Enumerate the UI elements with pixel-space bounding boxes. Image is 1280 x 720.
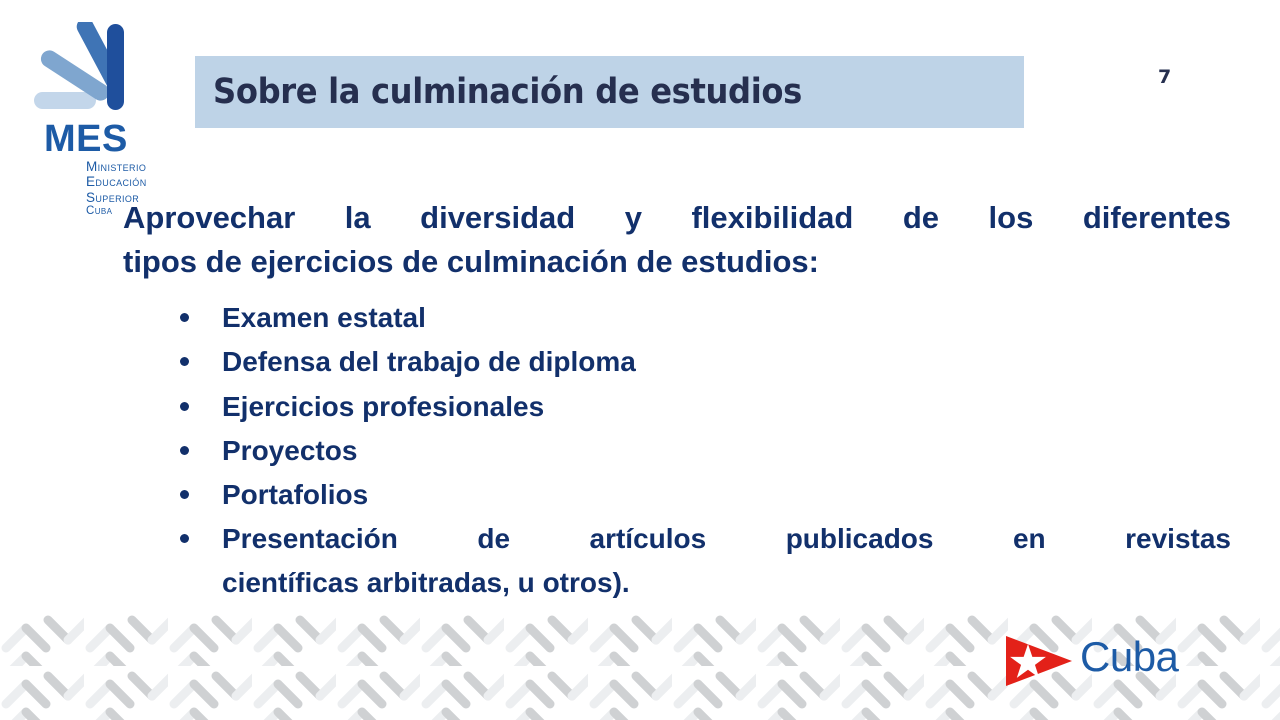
mes-logo-mark-icon: [30, 22, 150, 122]
mes-logo: MES Ministerio Educación Superior Cuba: [22, 22, 182, 190]
slide-content: Aprovechar la diversidad y flexibilidad …: [123, 196, 1231, 606]
list-item: Examen estatal: [123, 296, 1231, 340]
mes-subtitle-line-2: Educación: [86, 174, 184, 189]
mes-acronym: MES: [44, 120, 184, 158]
cuba-badge: Cuba: [1004, 630, 1180, 692]
page-number: 7: [1158, 66, 1171, 88]
bullet-dot-icon: [180, 357, 189, 366]
list-item-label: Examen estatal: [222, 296, 1231, 340]
bullet-dot-icon: [180, 313, 189, 322]
list-item: Defensa del trabajo de diploma: [123, 340, 1231, 384]
list-item-label: Proyectos: [222, 429, 1231, 473]
bullet-dot-icon: [180, 534, 189, 543]
list-item-label: Presentación de artículos publicados en …: [222, 517, 1231, 605]
slide-title: Sobre la culminación de estudios: [213, 72, 802, 112]
list-item: Ejercicios profesionales: [123, 385, 1231, 429]
bullet-list: Examen estatal Defensa del trabajo de di…: [123, 296, 1231, 606]
lead-line-2: tipos de ejercicios de culminación de es…: [123, 240, 1231, 284]
list-item: Proyectos: [123, 429, 1231, 473]
list-item-label: Defensa del trabajo de diploma: [222, 340, 1231, 384]
lead-line-1: Aprovechar la diversidad y flexibilidad …: [123, 196, 1231, 240]
list-item-line-1: Presentación de artículos publicados en …: [222, 517, 1231, 561]
list-item-label: Portafolios: [222, 473, 1231, 517]
bullet-dot-icon: [180, 490, 189, 499]
bullet-dot-icon: [180, 402, 189, 411]
mes-subtitle-line-1: Ministerio: [86, 159, 184, 174]
slide: MES Ministerio Educación Superior Cuba S…: [0, 0, 1280, 720]
cuba-label: Cuba: [1080, 632, 1178, 682]
list-item-label: Ejercicios profesionales: [222, 385, 1231, 429]
cuba-flag-triangle-star-icon: [1004, 634, 1076, 688]
list-item: Presentación de artículos publicados en …: [123, 517, 1231, 605]
bullet-dot-icon: [180, 446, 189, 455]
list-item: Portafolios: [123, 473, 1231, 517]
list-item-line-2: científicas arbitradas, u otros).: [222, 561, 1231, 605]
lead-paragraph: Aprovechar la diversidad y flexibilidad …: [123, 196, 1231, 284]
title-banner: Sobre la culminación de estudios: [195, 56, 1024, 128]
